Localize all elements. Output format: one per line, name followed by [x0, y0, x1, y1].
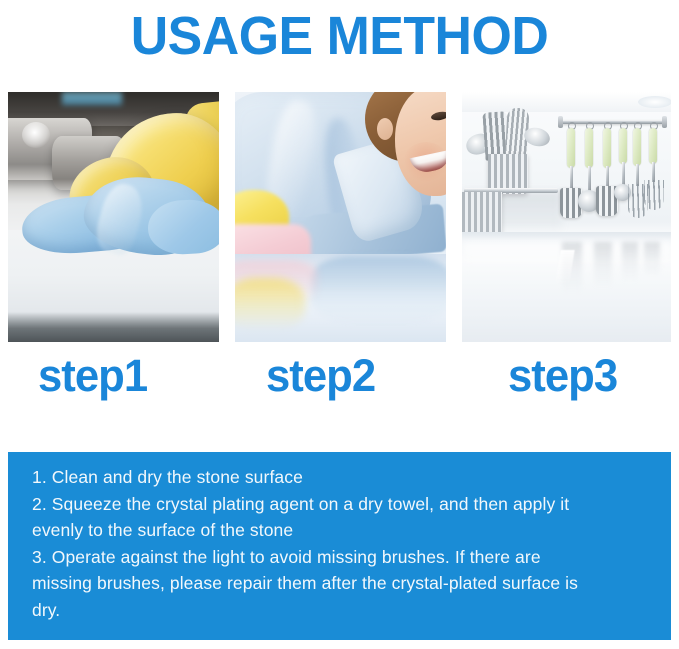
- step2-photo: [235, 92, 446, 342]
- glove-reflection: [235, 278, 305, 330]
- utensil-shaft: [636, 164, 639, 186]
- utensil-reflection: [622, 242, 638, 282]
- utensil-reflection: [594, 242, 612, 288]
- instructions-panel: 1. Clean and dry the stone surface 2. Sq…: [8, 452, 671, 640]
- step-labels: step1 step2 step3: [8, 350, 671, 406]
- shirt-reflection: [311, 256, 446, 326]
- page-title: USAGE METHOD: [131, 9, 549, 63]
- step3-photo: [462, 92, 671, 342]
- utensil-handle: [619, 128, 627, 164]
- woman-ear: [377, 118, 393, 140]
- rail-bracket-right: [662, 116, 667, 128]
- step-image-gallery: [8, 92, 671, 342]
- instruction-line: dry.: [32, 597, 653, 624]
- step-label-3: step3: [508, 350, 617, 402]
- step1-photo: [8, 92, 219, 342]
- utensil-handle: [567, 128, 575, 168]
- instruction-list: 1. Clean and dry the stone surface 2. Sq…: [32, 464, 653, 623]
- utensil-reflection: [644, 242, 660, 278]
- ceiling-light-icon: [638, 96, 671, 108]
- utensil-handle: [585, 128, 593, 168]
- pot-highlight: [22, 122, 50, 148]
- instruction-line: missing brushes, please repair them afte…: [32, 570, 653, 597]
- whisk-icon: [644, 180, 664, 210]
- utensil-shaft: [570, 166, 573, 190]
- page-header: USAGE METHOD: [0, 0, 679, 72]
- utensil-handle: [603, 128, 611, 168]
- instruction-line: evenly to the surface of the stone: [32, 517, 653, 544]
- step-label-2: step2: [266, 350, 375, 402]
- instruction-line: 3. Operate against the light to avoid mi…: [32, 544, 653, 571]
- countertop-edge: [8, 312, 219, 342]
- utensil-handle: [649, 128, 657, 164]
- utensil-shaft: [588, 166, 591, 192]
- instruction-line: 2. Squeeze the crystal plating agent on …: [32, 491, 653, 518]
- background-blur-accent: [62, 92, 122, 105]
- instruction-line: 1. Clean and dry the stone surface: [32, 464, 653, 491]
- utensil-shaft: [652, 162, 655, 182]
- step-label-1: step1: [38, 350, 147, 402]
- rail-bracket-left: [558, 116, 563, 128]
- utensil-holder-lower: [462, 192, 502, 234]
- utensil-shaft: [606, 166, 609, 188]
- utensil-handle: [633, 128, 641, 166]
